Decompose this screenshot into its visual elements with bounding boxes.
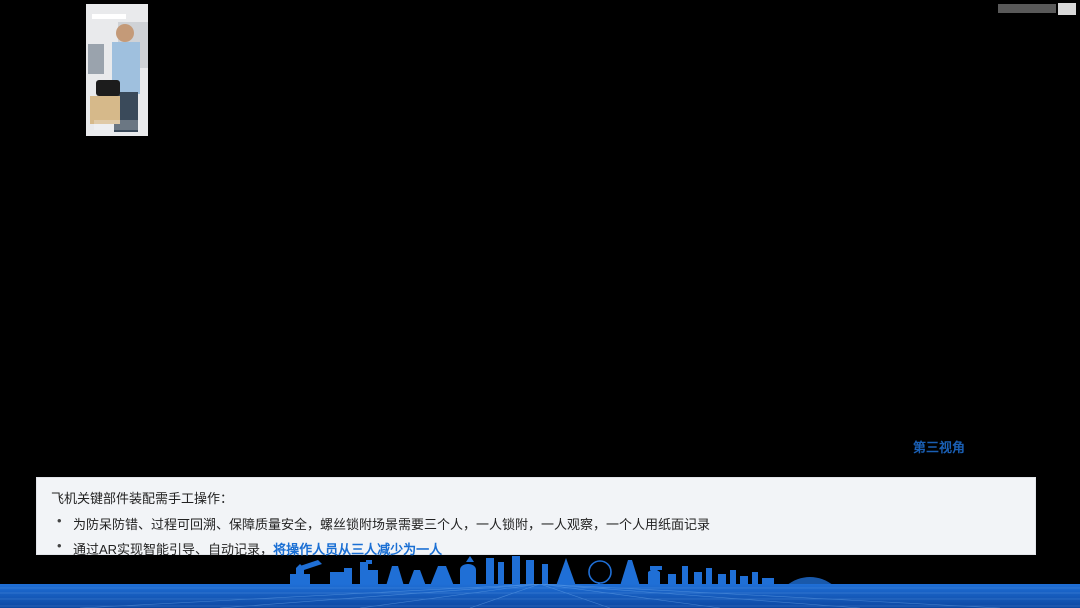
note-bullet-2-text: 通过AR实现智能引导、自动记录， <box>73 542 273 557</box>
note-title: 飞机关键部件装配需手工操作： <box>51 488 1021 507</box>
note-bullet-2-highlight: 将操作人员从三人减少为一人 <box>273 542 442 557</box>
summary-note: 飞机关键部件装配需手工操作： 为防呆防错、过程可回溯、保障质量安全，螺丝锁附场景… <box>36 477 1036 555</box>
footer-perspective-grid <box>0 584 1080 608</box>
note-bullet-1-text: 为防呆防错、过程可回溯、保障质量安全，螺丝锁附场景需要三个人，一人锁附，一人观察… <box>73 517 710 532</box>
video-third-person[interactable] <box>0 143 274 283</box>
city-skyline-graphic <box>0 556 1080 586</box>
video-third-person-label: 第三视角 <box>802 437 1076 456</box>
page-footer <box>0 556 1080 608</box>
note-bullet-1: 为防呆防错、过程可回溯、保障质量安全，螺丝锁附场景需要三个人，一人锁附，一人观察… <box>51 514 1021 533</box>
